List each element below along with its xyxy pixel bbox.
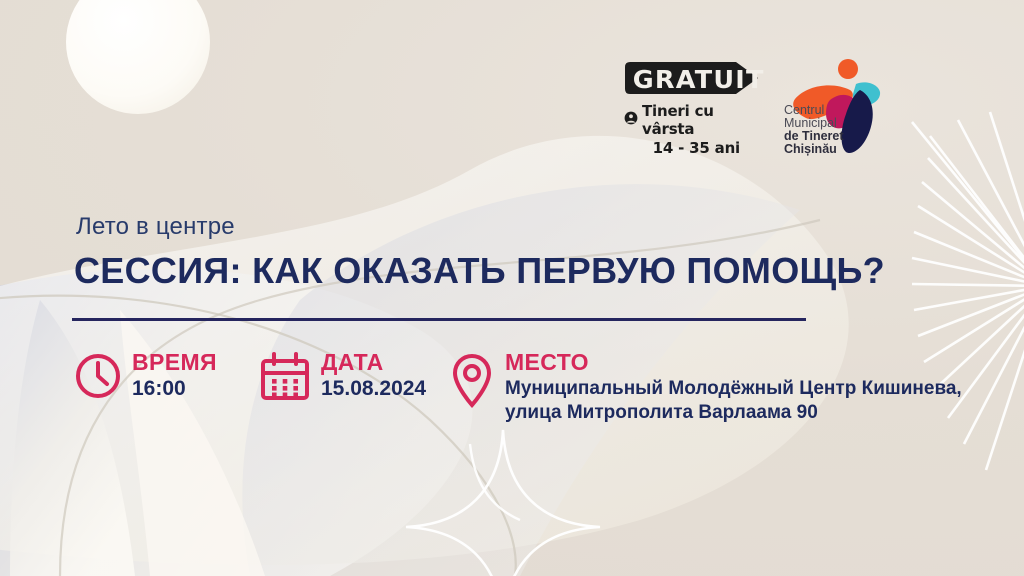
detail-date-value: 15.08.2024: [321, 377, 426, 402]
gratuit-badge: GRATUIT: [624, 60, 762, 96]
detail-place-value: Муниципальный Молодёжный Центр Кишинева,…: [505, 377, 969, 424]
logo-block: GRATUIT Tineri cu vârsta 14 - 35 ani: [624, 56, 889, 164]
detail-place: МЕСТО Муниципальный Молодёжный Центр Киш…: [449, 350, 969, 424]
detail-time: ВРЕМЯ 16:00: [74, 350, 259, 405]
age-text-line1: Tineri cu vârsta: [642, 102, 764, 138]
person-circle-icon: [624, 111, 638, 130]
logo-line-1: Centrul: [784, 103, 824, 117]
centrul-municipal-logo: Centrul Municipal de Tineret Chișinău: [778, 56, 888, 160]
poster-canvas: GRATUIT Tineri cu vârsta 14 - 35 ani: [0, 0, 1024, 576]
detail-date: ДАТА 15.08.2024: [259, 350, 449, 407]
detail-place-label: МЕСТО: [505, 350, 969, 374]
cmt-logo-mark: Centrul Municipal de Tineret Chișinău: [778, 56, 888, 160]
detail-time-value: 16:00: [132, 377, 217, 402]
page-title: СЕССИЯ: КАК ОКАЗАТЬ ПЕРВУЮ ПОМОЩЬ?: [74, 250, 954, 292]
detail-time-label: ВРЕМЯ: [132, 350, 217, 374]
logo-line-3: de Tineret: [784, 129, 844, 143]
calendar-icon: [259, 352, 311, 407]
age-text-line2: 14 - 35 ani: [624, 139, 740, 157]
detail-date-label: ДАТА: [321, 350, 426, 374]
circle-top-left: [66, 0, 210, 114]
event-details-row: ВРЕМЯ 16:00: [74, 350, 1004, 424]
logo-line-4: Chișinău: [784, 142, 837, 156]
clock-icon: [74, 352, 122, 405]
gratuit-badge-group: GRATUIT Tineri cu vârsta 14 - 35 ani: [624, 56, 764, 157]
detail-time-body: ВРЕМЯ 16:00: [132, 350, 217, 402]
logo-line-2: Municipal: [784, 116, 837, 130]
map-pin-icon: [449, 352, 495, 413]
gratuit-label: GRATUIT: [633, 65, 765, 94]
age-line-1: Tineri cu vârsta: [624, 102, 764, 138]
divider-rule: [72, 318, 806, 321]
kicker-text: Лето в центре: [76, 213, 235, 241]
detail-date-body: ДАТА 15.08.2024: [321, 350, 426, 402]
detail-place-body: МЕСТО Муниципальный Молодёжный Центр Киш…: [505, 350, 969, 424]
